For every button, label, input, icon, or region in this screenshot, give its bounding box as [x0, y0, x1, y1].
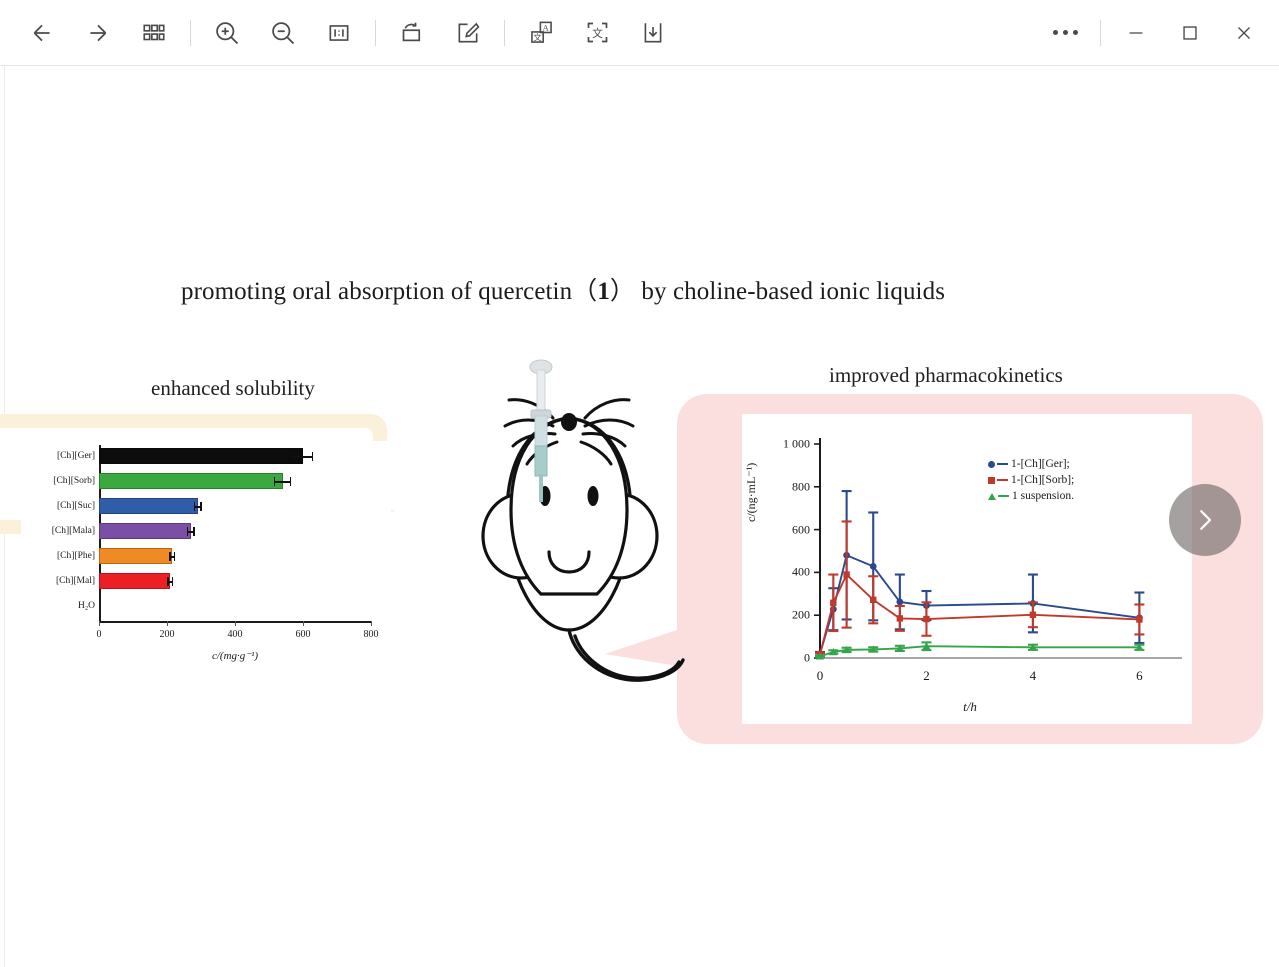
bar-chart-bar — [99, 573, 170, 589]
pk-point — [830, 600, 836, 606]
pk-legend-marker-triangle — [988, 493, 996, 500]
pk-legend-item: 1-[Ch][Sorb]; — [988, 472, 1074, 488]
page-title-paren2: ） — [610, 278, 635, 305]
bar-chart-row: [Ch][Phe] — [21, 545, 371, 567]
bar-chart-x-tick — [167, 621, 168, 626]
rotate-button[interactable] — [384, 8, 440, 58]
minimize-icon — [1125, 22, 1147, 44]
bar-chart-row: [Ch][Mala] — [21, 520, 371, 542]
toolbar-separator — [1100, 20, 1101, 46]
thumbnails-button[interactable] — [126, 8, 182, 58]
pk-point — [1136, 616, 1142, 622]
page-title-bold: 1 — [597, 278, 610, 305]
pk-x-axis-label: t/h — [963, 699, 977, 715]
toolbar-separator — [190, 20, 191, 46]
maximize-button[interactable] — [1163, 8, 1217, 58]
bar-chart-category-label: [Ch][Mala] — [21, 526, 99, 536]
pk-series-0 — [815, 491, 1144, 657]
bar-chart-bar — [99, 448, 303, 464]
bar-chart-x-tick-label: 0 — [97, 629, 102, 640]
translate-icon: A 文 — [528, 19, 555, 46]
pk-y-tick-label: 1 000 — [756, 437, 810, 452]
pk-legend-dash — [998, 495, 1009, 496]
bar-chart-track — [99, 495, 371, 517]
bar-chart-bar — [99, 523, 191, 539]
bar-chart-category-label: H₂O — [21, 601, 99, 611]
window-controls — [1038, 8, 1279, 58]
pk-y-tick-label: 600 — [756, 522, 810, 537]
pk-point — [896, 599, 903, 606]
zoom-in-button[interactable] — [199, 8, 255, 58]
toolbar: A 文 文 — [0, 0, 1279, 66]
pk-x-tick-label: 6 — [1136, 668, 1143, 684]
download-button[interactable] — [625, 8, 681, 58]
pk-y-tick-label: 400 — [756, 565, 810, 580]
bar-chart-track — [99, 570, 371, 592]
pharmacokinetics-line-chart: c/(ng·mL⁻¹) 02004006008001 000 0246 t/h … — [742, 414, 1198, 730]
translate-button[interactable]: A 文 — [513, 8, 569, 58]
pk-y-tick-label: 0 — [756, 651, 810, 666]
pk-series-1 — [815, 521, 1144, 657]
bar-chart-x-tick — [235, 621, 236, 626]
pk-plot-svg — [742, 414, 1198, 730]
pk-series-2 — [815, 642, 1144, 659]
edit-square-icon — [455, 20, 481, 46]
chevron-right-icon — [1190, 505, 1220, 535]
bar-chart-bar — [99, 473, 283, 489]
zoom-in-icon — [213, 19, 241, 47]
bar-chart-x-label: c/(mg·g⁻¹) — [212, 649, 258, 662]
pk-y-tick-label: 200 — [756, 608, 810, 623]
solubility-bar-chart: [Ch][Ger][Ch][Sorb][Ch][Suc][Ch][Mala][C… — [21, 441, 391, 681]
pk-legend-marker-circle — [988, 461, 995, 468]
bar-chart-x-tick — [371, 621, 372, 626]
ocr-crop-icon: 文 — [584, 19, 611, 46]
pk-series-line — [820, 646, 1139, 656]
bar-chart-error-bar — [167, 581, 173, 583]
right-panel-heading: improved pharmacokinetics — [829, 363, 1063, 388]
next-page-button[interactable] — [1169, 484, 1241, 556]
pk-legend-item: 1 suspension. — [988, 488, 1074, 504]
bar-chart-row: [Ch][Sorb] — [21, 470, 371, 492]
pk-legend: 1-[Ch][Ger];1-[Ch][Sorb];1 suspension. — [988, 456, 1074, 504]
pk-y-tick-label: 800 — [756, 479, 810, 494]
ellipsis-icon — [1053, 30, 1078, 35]
bar-chart-bar — [99, 548, 172, 564]
back-button[interactable] — [14, 8, 70, 58]
pk-point — [843, 571, 849, 577]
pk-point — [870, 597, 876, 603]
bar-chart-category-label: [Ch][Sorb] — [21, 476, 99, 486]
page-title-paren: （ — [572, 278, 597, 305]
bar-chart-row: [Ch][Ger] — [21, 445, 371, 467]
more-options-button[interactable] — [1038, 8, 1092, 58]
bar-chart-error-bar — [194, 506, 202, 508]
download-icon — [640, 20, 666, 46]
bar-chart-error-bar — [169, 556, 175, 558]
left-panel-heading: enhanced solubility — [151, 376, 315, 401]
grid-icon — [141, 20, 167, 46]
pharmacokinetics-chart-frame: c/(ng·mL⁻¹) 02004006008001 000 0246 t/h … — [739, 411, 1195, 727]
bar-chart-category-label: [Ch][Ger] — [21, 451, 99, 461]
pk-legend-item: 1-[Ch][Ger]; — [988, 456, 1074, 472]
pk-x-tick-label: 0 — [817, 668, 824, 684]
maximize-icon — [1179, 22, 1201, 44]
bar-chart-track — [99, 545, 371, 567]
one-to-one-icon — [326, 20, 352, 46]
close-icon — [1233, 22, 1255, 44]
bar-chart-x-tick — [99, 621, 100, 626]
zoom-out-button[interactable] — [255, 8, 311, 58]
bar-chart-error-bar — [274, 481, 292, 483]
pk-legend-dash — [997, 463, 1008, 464]
bar-chart-row: [Ch][Mal] — [21, 570, 371, 592]
page-title-suffix: by choline-based ionic liquids — [641, 278, 945, 305]
syringe-illustration — [518, 358, 564, 503]
pk-point — [897, 615, 903, 621]
bar-chart-track — [99, 470, 371, 492]
pk-point — [1030, 612, 1036, 618]
pk-x-tick-label: 2 — [923, 668, 930, 684]
rotate-icon — [399, 19, 426, 46]
svg-text:A: A — [542, 23, 548, 32]
bar-chart-category-label: [Ch][Mal] — [21, 576, 99, 586]
bar-chart-bar — [99, 498, 198, 514]
bar-chart-error-bar — [293, 456, 313, 458]
graphical-abstract: promoting oral absorption of quercetin（1… — [5, 66, 1277, 967]
pk-series-line — [820, 575, 1139, 655]
arrow-left-icon — [29, 20, 55, 46]
pk-legend-dash — [997, 479, 1008, 480]
laboratory-mouse-illustration — [457, 356, 687, 706]
pk-x-tick-label: 4 — [1030, 668, 1037, 684]
minimize-button[interactable] — [1109, 8, 1163, 58]
pk-point — [923, 616, 929, 622]
toolbar-separator — [375, 20, 376, 46]
bar-chart-row: H₂O — [21, 595, 371, 617]
pk-series-line — [820, 555, 1139, 653]
bar-chart-category-label: [Ch][Phe] — [21, 551, 99, 561]
actual-size-button[interactable] — [311, 8, 367, 58]
pk-legend-label: 1-[Ch][Ger]; — [1011, 458, 1070, 470]
pk-legend-label: 1-[Ch][Sorb]; — [1011, 474, 1074, 486]
bar-chart-track — [99, 520, 371, 542]
page-sheet: promoting oral absorption of quercetin（1… — [4, 66, 1276, 967]
pk-legend-marker-square — [988, 477, 995, 484]
arrow-right-icon — [85, 20, 111, 46]
svg-text:文: 文 — [592, 27, 603, 40]
svg-text:文: 文 — [533, 32, 542, 42]
pk-point — [870, 563, 877, 570]
document-page-area[interactable]: promoting oral absorption of quercetin（1… — [0, 66, 1279, 967]
bar-chart-x-tick-label: 200 — [160, 629, 175, 640]
bar-chart-x-tick-label: 600 — [296, 629, 311, 640]
annotate-button[interactable] — [440, 8, 496, 58]
bar-chart-x-tick-label: 800 — [364, 629, 379, 640]
bar-chart-x-tick — [303, 621, 304, 626]
page-title-prefix: promoting oral absorption of quercetin — [181, 278, 572, 305]
forward-button[interactable] — [70, 8, 126, 58]
bar-chart-error-bar — [187, 531, 195, 533]
bar-chart-row: [Ch][Suc] — [21, 495, 371, 517]
toolbar-separator — [504, 20, 505, 46]
close-button[interactable] — [1217, 8, 1271, 58]
bar-chart-track — [99, 445, 371, 467]
pk-legend-label: 1 suspension. — [1012, 490, 1074, 502]
zoom-out-icon — [269, 19, 297, 47]
toolbar-left-group: A 文 文 — [0, 8, 681, 58]
page-title: promoting oral absorption of quercetin（1… — [181, 271, 941, 307]
bar-chart-x-tick-label: 400 — [228, 629, 243, 640]
bar-chart-track — [99, 595, 371, 617]
extract-text-button[interactable]: 文 — [569, 8, 625, 58]
bar-chart-category-label: [Ch][Suc] — [21, 501, 99, 511]
